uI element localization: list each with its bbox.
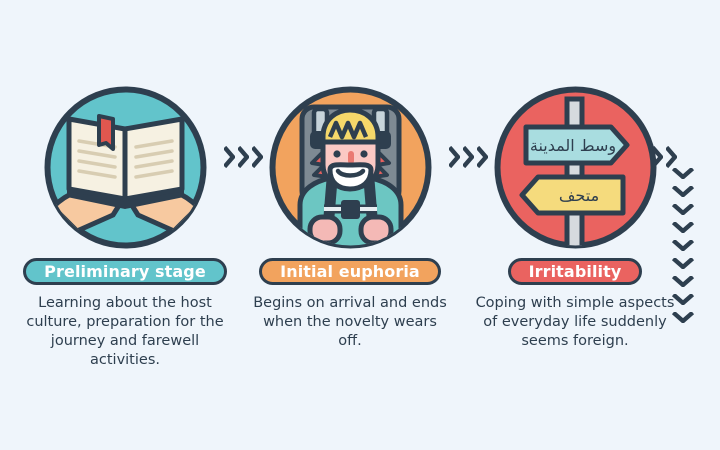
connector-chevrons-1 [224,146,263,168]
connector-chevrons-2 [449,146,488,168]
stage-card-initial-euphoria: Initial euphoria Begins on arrival and e… [240,85,460,351]
stage-label: Irritability [529,262,622,281]
stage-label: Initial euphoria [280,262,420,281]
chevron-right-icon [477,146,488,168]
backpacker-traveler-icon [268,85,433,250]
chevron-down-icon [672,276,694,287]
stage-pill-initial-euphoria[interactable]: Initial euphoria [259,258,441,285]
stage-pill-irritability[interactable]: Irritability [508,258,643,285]
chevron-down-icon [672,168,694,179]
chevron-right-icon [238,146,249,168]
chevron-down-icon [672,258,694,269]
stage-label: Preliminary stage [44,262,206,281]
open-book-in-hands-icon [43,85,208,250]
stage-card-irritability: وسط المدينة متحف Irritability Coping wit… [465,85,685,351]
top-sign-text: وسط المدينة [529,136,615,156]
stage-description: Learning about the host culture, prepara… [25,294,225,370]
chevron-right-icon [652,146,663,168]
chevron-right-icon [449,146,460,168]
chevron-down-icon [672,240,694,251]
chevron-down-icon [672,222,694,233]
signpost-direction-icon: وسط المدينة متحف [493,85,658,250]
chevron-down-icon [672,312,694,323]
stage-pill-preliminary-stage[interactable]: Preliminary stage [23,258,227,285]
chevron-right-icon [224,146,235,168]
chevron-down-icon [672,186,694,197]
bottom-sign-text: متحف [558,186,598,205]
stage-description: Begins on arrival and ends when the nove… [250,294,450,351]
chevron-right-icon [463,146,474,168]
stage-description: Coping with simple aspects of everyday l… [475,294,675,351]
infographic-canvas: Preliminary stage Learning about the hos… [0,0,720,450]
connector-chevrons-3 [652,146,677,168]
stage-card-preliminary-stage: Preliminary stage Learning about the hos… [15,85,235,370]
connector-chevrons-down-column [672,168,694,323]
chevron-right-icon [666,146,677,168]
chevron-right-icon [252,146,263,168]
chevron-down-icon [672,204,694,215]
chevron-down-icon [672,294,694,305]
